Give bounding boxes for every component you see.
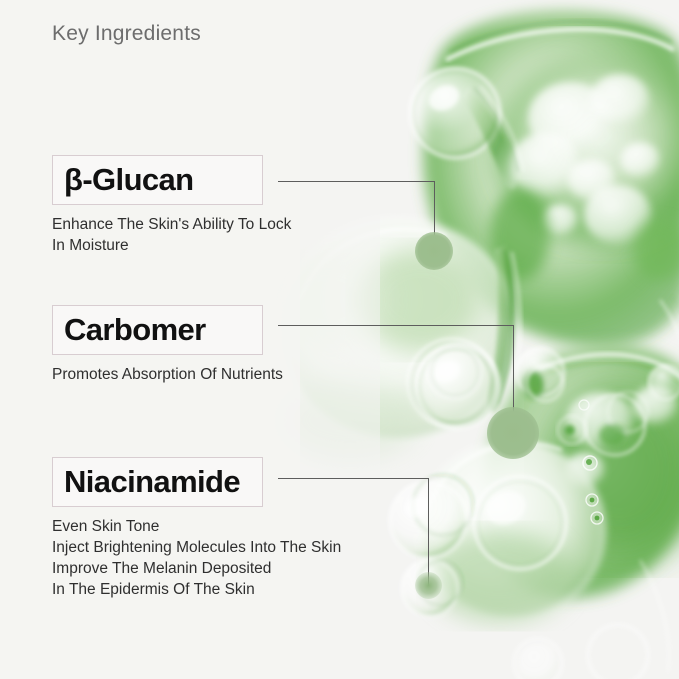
ingredient-block-niacinamide: Niacinamide Even Skin Tone Inject Bright… — [52, 457, 341, 600]
ingredient-description-carbomer: Promotes Absorption Of Nutrients — [52, 364, 283, 385]
ingredient-name-label: Niacinamide — [64, 464, 240, 499]
ingredient-name-box-carbomer: Carbomer — [52, 305, 263, 355]
product-ingredient-infographic: Key Ingredients β-Glucan Enhance The Ski… — [0, 0, 679, 679]
ingredient-block-beta-glucan: β-Glucan Enhance The Skin's Ability To L… — [52, 155, 291, 256]
ingredient-name-box-niacinamide: Niacinamide — [52, 457, 263, 507]
ingredient-description-beta-glucan: Enhance The Skin's Ability To Lock In Mo… — [52, 214, 291, 256]
ingredient-name-box-beta-glucan: β-Glucan — [52, 155, 263, 205]
ingredient-name-label: β-Glucan — [64, 162, 194, 197]
ingredient-description-niacinamide: Even Skin Tone Inject Brightening Molecu… — [52, 516, 341, 600]
ingredient-name-label: Carbomer — [64, 312, 206, 347]
ingredient-block-carbomer: Carbomer Promotes Absorption Of Nutrient… — [52, 305, 283, 385]
page-title: Key Ingredients — [52, 22, 201, 46]
